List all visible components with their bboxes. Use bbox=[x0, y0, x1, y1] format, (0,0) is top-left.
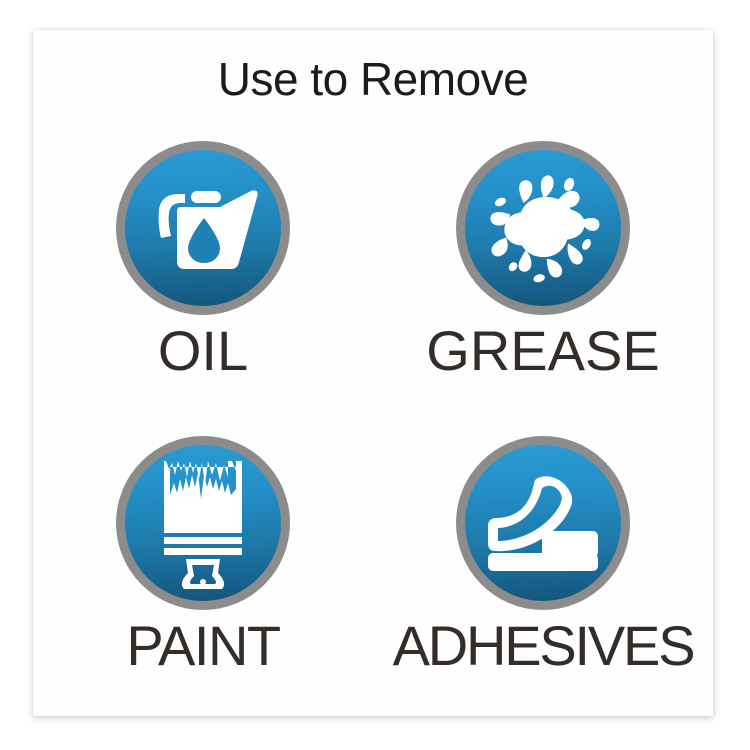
paint-badge bbox=[33, 433, 373, 613]
feature-label-oil: OIL bbox=[33, 318, 373, 383]
grease-badge bbox=[373, 138, 713, 318]
badge-face bbox=[465, 150, 621, 306]
feature-label-paint: PAINT bbox=[33, 613, 373, 678]
oil-badge bbox=[33, 138, 373, 318]
page-title: Use to Remove bbox=[33, 52, 713, 106]
feature-label-grease: GREASE bbox=[373, 318, 713, 383]
badge-ring bbox=[116, 141, 290, 315]
feature-item-grease[interactable]: GREASE bbox=[373, 130, 713, 420]
feature-item-oil[interactable]: OIL bbox=[33, 130, 373, 420]
feature-card: Use to Remove bbox=[33, 30, 713, 716]
feature-grid: OIL bbox=[33, 130, 713, 710]
feature-item-paint[interactable]: PAINT bbox=[33, 425, 373, 715]
oil-can-icon bbox=[147, 182, 259, 274]
badge-ring bbox=[456, 141, 630, 315]
adhesives-badge bbox=[373, 433, 713, 613]
product-feature-graphic: Use to Remove bbox=[0, 0, 750, 750]
badge-face bbox=[465, 445, 621, 601]
badge-ring bbox=[116, 436, 290, 610]
paint-brush-icon bbox=[152, 455, 254, 591]
feature-label-adhesives: ADHESIVES bbox=[373, 613, 713, 678]
badge-face bbox=[125, 445, 281, 601]
grease-splatter-icon bbox=[485, 170, 601, 286]
feature-item-adhesives[interactable]: ADHESIVES bbox=[373, 425, 713, 715]
peeling-adhesive-tape-icon bbox=[484, 471, 602, 575]
badge-face bbox=[125, 150, 281, 306]
badge-ring bbox=[456, 436, 630, 610]
